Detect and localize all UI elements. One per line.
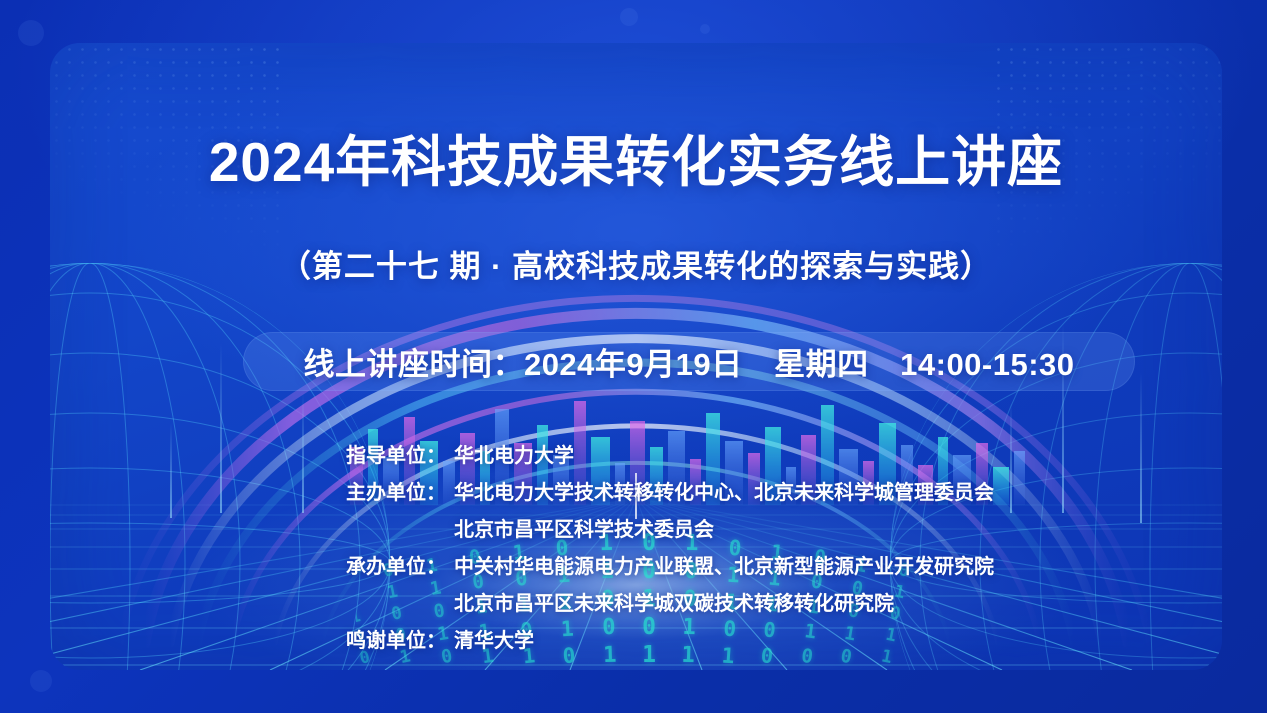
organization-value: 华北电力大学技术转移转化中心、北京未来科学城管理委员会	[446, 476, 994, 505]
bokeh-dot	[620, 8, 638, 26]
organization-row: 承办单位：中关村华电能源电力产业联盟、北京新型能源产业开发研究院	[50, 550, 1222, 579]
organization-value: 华北电力大学	[446, 439, 574, 468]
page-subtitle: （第二十七 期 · 高校科技成果转化的探索与实践）	[50, 241, 1222, 286]
organization-row: 鸣谢单位：清华大学	[50, 624, 1222, 653]
poster-canvas: 1011001001110100011110101011101100100101…	[0, 0, 1267, 713]
organization-value: 北京市昌平区未来科学城双碳技术转移转化研究院	[446, 587, 894, 616]
organization-label: 承办单位：	[50, 550, 446, 579]
organizations-list: 指导单位：华北电力大学主办单位：华北电力大学技术转移转化中心、北京未来科学城管理…	[50, 439, 1222, 661]
content-panel: 1011001001110100011110101011101100100101…	[50, 43, 1222, 670]
organization-row: 北京市昌平区未来科学城双碳技术转移转化研究院	[50, 587, 1222, 616]
organization-value: 清华大学	[446, 624, 534, 653]
organization-row: 指导单位：华北电力大学	[50, 439, 1222, 468]
organization-row: 北京市昌平区科学技术委员会	[50, 513, 1222, 542]
bokeh-dot	[18, 20, 44, 46]
organization-label: 指导单位：	[50, 439, 446, 468]
organization-row: 主办单位：华北电力大学技术转移转化中心、北京未来科学城管理委员会	[50, 476, 1222, 505]
lecture-time-banner: 线上讲座时间：2024年9月19日 星期四 14:00-15:30	[243, 332, 1135, 391]
organization-value: 中关村华电能源电力产业联盟、北京新型能源产业开发研究院	[446, 550, 994, 579]
lecture-time-text: 线上讲座时间：2024年9月19日 星期四 14:00-15:30	[303, 339, 1074, 384]
organization-value: 北京市昌平区科学技术委员会	[446, 513, 714, 542]
page-title: 2024年科技成果转化实务线上讲座	[50, 135, 1222, 190]
organization-label: 鸣谢单位：	[50, 624, 446, 653]
bokeh-dot	[30, 670, 52, 692]
bokeh-dot	[700, 24, 710, 34]
organization-label: 主办单位：	[50, 476, 446, 505]
